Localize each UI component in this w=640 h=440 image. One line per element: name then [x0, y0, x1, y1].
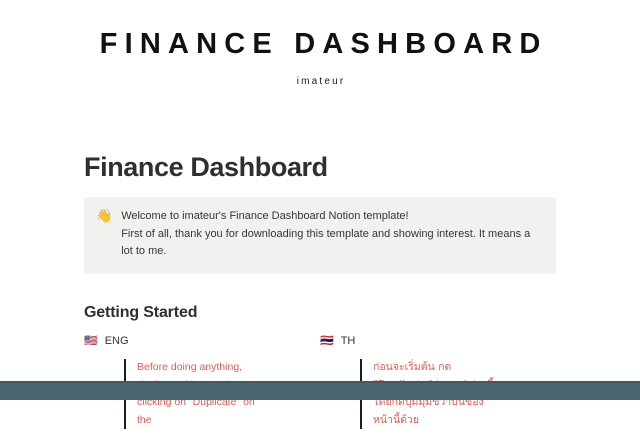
callout-line-1: Welcome to imateur's Finance Dashboard N… [121, 208, 542, 226]
thailand-flag-emoji: 🇹🇭 [320, 333, 334, 349]
callout-text: Welcome to imateur's Finance Dashboard N… [121, 208, 542, 261]
welcome-callout[interactable]: 👋 Welcome to imateur's Finance Dashboard… [84, 197, 556, 274]
cover-subtitle: imateur [295, 76, 346, 87]
getting-started-heading: Getting Started [84, 304, 556, 322]
page-title: Finance Dashboard [84, 152, 556, 183]
cover-title: FINANCE DASHBOARD [92, 30, 547, 59]
column-label-th: TH [341, 333, 356, 349]
callout-line-2: First of all, thank you for downloading … [121, 226, 542, 261]
column-label-eng: ENG [105, 333, 129, 349]
column-header-eng: 🇺🇸 ENG [84, 333, 302, 349]
bottom-bar [0, 383, 640, 400]
us-flag-emoji: 🇺🇸 [84, 333, 98, 349]
column-header-th: 🇹🇭 TH [320, 333, 538, 349]
cover-banner: FINANCE DASHBOARD imateur [0, 0, 640, 110]
waving-hand-emoji: 👋 [96, 208, 112, 225]
